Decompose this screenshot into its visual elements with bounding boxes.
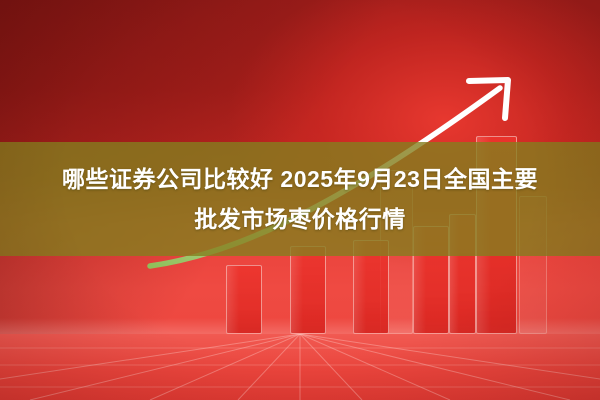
vignette-overlay <box>0 0 600 400</box>
banner-canvas: 哪些证券公司比较好 2025年9月23日全国主要 批发市场枣价格行情 <box>0 0 600 400</box>
